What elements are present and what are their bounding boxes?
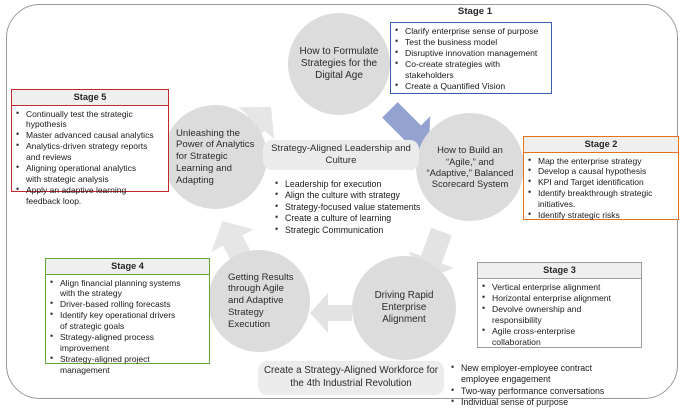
stage4-header: Stage 4 xyxy=(46,259,209,275)
list-item: Driver-based rolling forecasts xyxy=(49,299,205,309)
list-item: New employer-employee contract xyxy=(450,363,650,374)
list-item: Disruptive innovation management xyxy=(394,48,547,59)
circle-getting-results[interactable]: Getting Results through Agile and Adapti… xyxy=(208,250,310,352)
list-item: with strategic analysis xyxy=(15,174,164,184)
list-item: Aligning operational analytics xyxy=(15,163,164,173)
list-item: Create a Quantified Vision xyxy=(394,81,547,92)
list-item: Vertical enterprise alignment xyxy=(481,282,637,293)
list-item: Master advanced causal analytics xyxy=(15,130,164,140)
stage-box-stage1[interactable]: Clarify enterprise sense of purposeTest … xyxy=(390,22,552,94)
list-item: Continually test the strategic xyxy=(15,109,164,119)
list-item: Strategy-focused value statements xyxy=(274,202,436,213)
list-item: and reviews xyxy=(15,152,164,162)
list-item: Strategy-aligned project xyxy=(49,354,205,364)
stage1-title: Stage 1 xyxy=(390,6,560,17)
center-title: Strategy-Aligned Leadership and Culture xyxy=(263,143,419,168)
list-item: Leadership for execution xyxy=(274,179,436,190)
circle-driving-label: Driving Rapid Enterprise Alignment xyxy=(352,290,456,326)
stage3-body: Vertical enterprise alignmentHorizontal … xyxy=(478,279,641,351)
workforce-bullets: New employer-employee contractemployee e… xyxy=(450,363,650,409)
list-item: initiatives. xyxy=(527,199,674,209)
list-item: collaboration xyxy=(481,337,637,348)
list-item: improvement xyxy=(49,343,205,353)
diagram-canvas: How to Formulate Strategies for the Digi… xyxy=(0,0,685,405)
stage2-bullet-list: Map the enterprise strategyDevelop a cau… xyxy=(527,156,674,221)
stage2-header: Stage 2 xyxy=(524,137,678,153)
circle-driving-alignment[interactable]: Driving Rapid Enterprise Alignment xyxy=(352,256,456,360)
list-item: Align the culture with strategy xyxy=(274,190,436,201)
stage4-bullet-list: Align financial planning systemswith the… xyxy=(49,278,205,376)
center-bullet-list: Leadership for executionAlign the cultur… xyxy=(274,179,436,236)
list-item: Agile cross-enterprise xyxy=(481,326,637,337)
list-item: stakeholders xyxy=(394,70,547,81)
list-item: Clarify enterprise sense of purpose xyxy=(394,26,547,37)
stage-box-stage3[interactable]: Stage 3 Vertical enterprise alignmentHor… xyxy=(477,262,642,348)
stage1-body: Clarify enterprise sense of purposeTest … xyxy=(391,23,551,95)
list-item: Map the enterprise strategy xyxy=(527,156,674,166)
stage1-bullet-list: Clarify enterprise sense of purposeTest … xyxy=(394,26,547,92)
stage5-body: Continually test the strategichypothesis… xyxy=(12,106,168,211)
stage5-bullet-list: Continually test the strategichypothesis… xyxy=(15,109,164,207)
list-item: Strategic Communication xyxy=(274,225,436,236)
workforce-title: Create a Strategy-Aligned Workforce for … xyxy=(258,365,444,390)
circle-formulate-strategies[interactable]: How to Formulate Strategies for the Digi… xyxy=(288,13,390,115)
list-item: Identify breakthrough strategic xyxy=(527,188,674,198)
stage-box-stage4[interactable]: Stage 4 Align financial planning systems… xyxy=(45,258,210,364)
circle-unleashing-label: Unleashing the Power of Analytics for St… xyxy=(163,128,267,187)
stage3-header: Stage 3 xyxy=(478,263,641,279)
stage-box-stage5[interactable]: Stage 5 Continually test the strategichy… xyxy=(11,89,169,192)
list-item: Two-way performance conversations xyxy=(450,386,650,397)
list-item: with the strategy xyxy=(49,288,205,298)
list-item: management xyxy=(49,365,205,375)
stage2-body: Map the enterprise strategyDevelop a cau… xyxy=(524,153,678,225)
workforce-bullet-list: New employer-employee contractemployee e… xyxy=(450,363,650,408)
circle-unleashing-analytics[interactable]: Unleashing the Power of Analytics for St… xyxy=(163,105,267,209)
circle-getting-label: Getting Results through Agile and Adapti… xyxy=(208,272,310,331)
stage4-body: Align financial planning systemswith the… xyxy=(46,275,209,380)
list-item: Identify key operational drivers xyxy=(49,310,205,320)
center-title-pill: Strategy-Aligned Leadership and Culture xyxy=(263,140,419,170)
list-item: KPI and Target identification xyxy=(527,177,674,187)
list-item: responsibility xyxy=(481,315,637,326)
list-item: Identify strategic risks xyxy=(527,210,674,220)
stage5-header: Stage 5 xyxy=(12,90,168,106)
list-item: Individual sense of purpose xyxy=(450,397,650,408)
list-item: employee engagement xyxy=(450,374,650,385)
list-item: Strategy-aligned process xyxy=(49,332,205,342)
stage-box-stage2[interactable]: Stage 2 Map the enterprise strategyDevel… xyxy=(523,136,679,220)
list-item: Align financial planning systems xyxy=(49,278,205,288)
list-item: Co-create strategies with xyxy=(394,59,547,70)
stage3-bullet-list: Vertical enterprise alignmentHorizontal … xyxy=(481,282,637,348)
list-item: feedback loop. xyxy=(15,196,164,206)
list-item: Analytics-driven strategy reports xyxy=(15,141,164,151)
workforce-title-pill: Create a Strategy-Aligned Workforce for … xyxy=(258,361,444,395)
list-item: Create a culture of learning xyxy=(274,213,436,224)
list-item: hypothesis xyxy=(15,119,164,129)
center-bullets: Leadership for executionAlign the cultur… xyxy=(274,179,436,236)
list-item: of strategic goals xyxy=(49,321,205,331)
list-item: Devolve ownership and xyxy=(481,304,637,315)
circle-formulate-label: How to Formulate Strategies for the Digi… xyxy=(288,46,390,83)
list-item: Test the business model xyxy=(394,37,547,48)
list-item: Apply an adaptive learning xyxy=(15,185,164,195)
list-item: Develop a causal hypothesis xyxy=(527,166,674,176)
list-item: Horizontal enterprise alignment xyxy=(481,293,637,304)
